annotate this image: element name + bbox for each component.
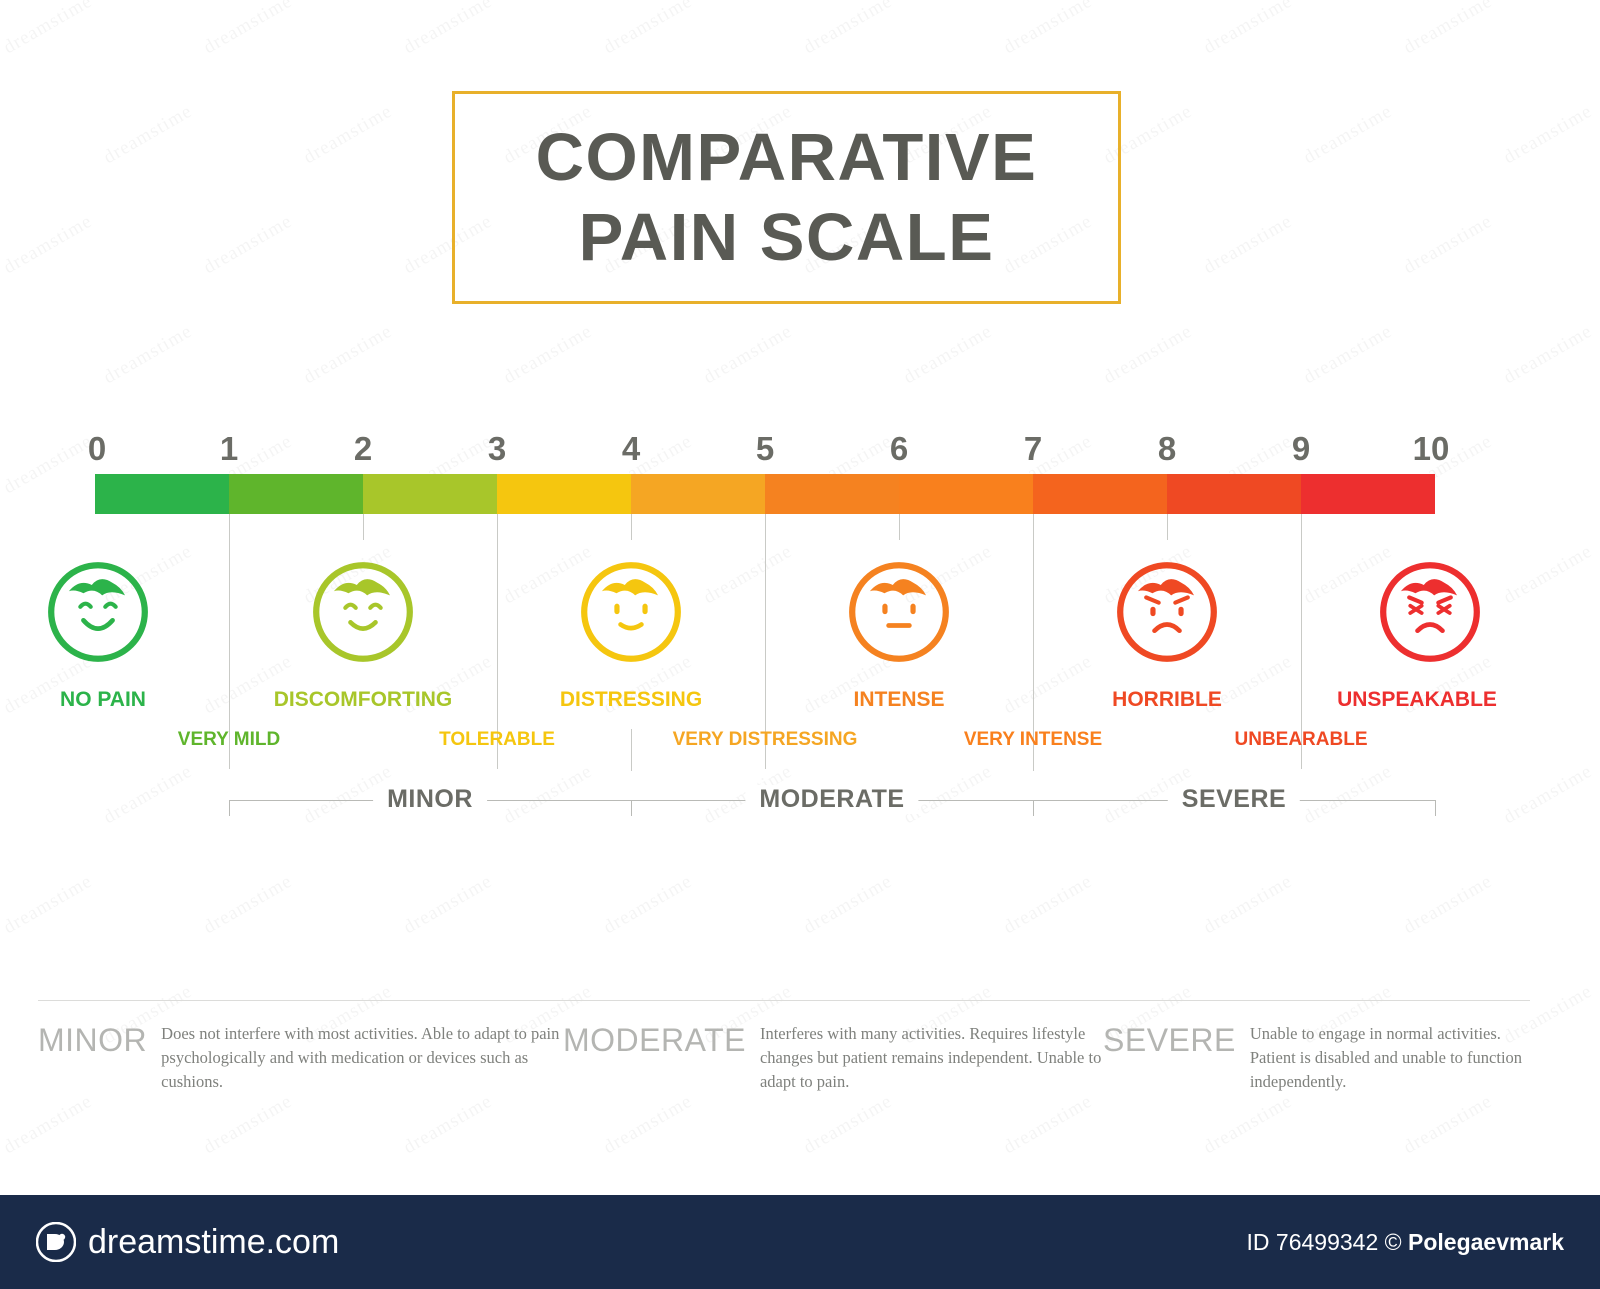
watermark-text: dreamstime [1400,211,1496,279]
brand-logo[interactable]: dreamstime.com [36,1222,339,1262]
watermark-text: dreamstime [1000,1091,1096,1159]
watermark-text: dreamstime [800,1091,896,1159]
watermark-text: dreamstime [900,321,996,389]
watermark-text: dreamstime [200,211,296,279]
group-label-severe: SEVERE [1168,785,1300,814]
watermark-text: dreamstime [1300,101,1396,169]
scale-segment-7 [1033,474,1167,514]
watermark-text: dreamstime [1000,0,1096,59]
scale-segment-4 [631,474,765,514]
description-severe: SEVERE Unable to engage in normal activi… [1103,1022,1523,1094]
watermark-text: dreamstime [600,1091,696,1159]
watermark-text: dreamstime [1200,0,1296,59]
scale-segment-2 [363,474,497,514]
brand-name: dreamstime.com [88,1223,339,1262]
footer-bar: dreamstime.com ID 76499342 © Polegaevmar… [0,1195,1600,1289]
primary-label-6: INTENSE [853,688,944,712]
scale-segment-8 [1167,474,1301,514]
description-minor-title: MINOR [38,1022,147,1059]
watermark-text: dreamstime [800,0,896,59]
credit-copyright: © [1385,1229,1402,1255]
secondary-labels-row: VERY MILDTOLERABLEVERY DISTRESSINGVERY I… [95,729,1435,757]
scale-tick-labels: 012345678910 [95,430,1435,474]
scale-segment-6 [899,474,1033,514]
scale-tick-label-1: 1 [220,430,238,468]
severity-descriptions: MINOR Does not interfere with most activ… [38,1022,1530,1094]
bracket-cap-severe-1 [1435,800,1436,816]
scale-tick-label-9: 9 [1292,430,1310,468]
watermark-text: dreamstime [0,431,96,499]
scale-color-bar [95,474,1435,514]
description-moderate-title: MODERATE [563,1022,746,1059]
scale-tick-label-8: 8 [1158,430,1176,468]
bracket-cap-minor-0 [229,800,230,816]
bracket-cap-moderate-0 [631,800,632,816]
description-moderate: MODERATE Interferes with many activities… [563,1022,1103,1094]
primary-label-0: NO PAIN [60,688,146,712]
description-minor-text: Does not interfere with most activities.… [161,1022,563,1094]
credit-id: ID 76499342 [1247,1229,1379,1255]
watermark-text: dreamstime [1300,321,1396,389]
face-icon-6 [847,560,951,664]
scale-segment-0 [95,474,229,514]
credit-author: Polegaevmark [1408,1229,1564,1255]
face-icons-row [95,560,1435,680]
watermark-text: dreamstime [1400,1091,1496,1159]
watermark-text: dreamstime [300,101,396,169]
watermark-text: dreamstime [1500,321,1596,389]
secondary-label-7: VERY INTENSE [964,729,1102,751]
watermark-text: dreamstime [100,101,196,169]
watermark-text: dreamstime [200,1091,296,1159]
image-credit: ID 76499342 © Polegaevmark [1247,1229,1564,1256]
watermark-text: dreamstime [0,871,96,939]
pain-scale: 012345678910 [95,430,1435,514]
face-icon-0 [46,560,150,664]
watermark-text: dreamstime [200,871,296,939]
watermark-text: dreamstime [1200,1091,1296,1159]
page-title: COMPARATIVE PAIN SCALE [452,91,1121,304]
description-severe-title: SEVERE [1103,1022,1236,1059]
face-icon-8 [1115,560,1219,664]
description-moderate-text: Interferes with many activities. Require… [760,1022,1103,1094]
scale-segment-3 [497,474,631,514]
description-minor: MINOR Does not interfere with most activ… [38,1022,563,1094]
watermark-text: dreamstime [1200,871,1296,939]
watermark-text: dreamstime [600,0,696,59]
scale-segment-1 [229,474,363,514]
watermark-text: dreamstime [300,321,396,389]
divider [38,1000,1530,1001]
primary-labels-row: NO PAINDISCOMFORTINGDISTRESSINGINTENSEHO… [95,688,1435,716]
watermark-text: dreamstime [400,0,496,59]
watermark-text: dreamstime [1500,761,1596,829]
watermark-text: dreamstime [400,871,496,939]
watermark-text: dreamstime [1200,211,1296,279]
secondary-label-1: VERY MILD [178,729,280,751]
watermark-text: dreamstime [200,0,296,59]
group-label-minor: MINOR [373,785,487,814]
scale-tick-label-2: 2 [354,430,372,468]
description-severe-text: Unable to engage in normal activities. P… [1250,1022,1523,1094]
primary-label-4: DISTRESSING [560,688,702,712]
scale-tick-label-10: 10 [1413,430,1450,468]
scale-tick-label-4: 4 [622,430,640,468]
page-title-line-2: PAIN SCALE [579,198,995,277]
watermark-text: dreamstime [0,211,96,279]
watermark-text: dreamstime [100,321,196,389]
watermark-text: dreamstime [1400,871,1496,939]
secondary-label-3: TOLERABLE [439,729,555,751]
watermark-text: dreamstime [1100,321,1196,389]
watermark-text: dreamstime [700,321,796,389]
watermark-text: dreamstime [1500,101,1596,169]
scale-tick-label-7: 7 [1024,430,1042,468]
watermark-text: dreamstime [1500,541,1596,609]
scale-tick-label-6: 6 [890,430,908,468]
watermark-text: dreamstime [0,0,96,59]
primary-label-10: UNSPEAKABLE [1337,688,1497,712]
watermark-text: dreamstime [1000,871,1096,939]
primary-label-8: HORRIBLE [1112,688,1222,712]
severity-group-brackets: MINORMODERATESEVERE [95,772,1435,832]
scale-tick-label-3: 3 [488,430,506,468]
scale-segment-5 [765,474,899,514]
watermark-text: dreamstime [800,871,896,939]
dreamstime-logo-icon [36,1222,76,1262]
secondary-label-5: VERY DISTRESSING [673,729,858,751]
watermark-text: dreamstime [600,871,696,939]
face-icon-4 [579,560,683,664]
watermark-text: dreamstime [400,1091,496,1159]
watermark-text: dreamstime [500,321,596,389]
scale-segment-9 [1301,474,1435,514]
bracket-cap-severe-0 [1033,800,1034,816]
primary-label-2: DISCOMFORTING [274,688,453,712]
page-title-line-1: COMPARATIVE [536,118,1038,197]
watermark-text: dreamstime [0,1091,96,1159]
secondary-label-9: UNBEARABLE [1235,729,1368,751]
group-label-moderate: MODERATE [745,785,918,814]
watermark-text: dreamstime [1400,0,1496,59]
face-icon-10 [1378,560,1482,664]
scale-tick-label-0: 0 [88,430,106,468]
scale-tick-label-5: 5 [756,430,774,468]
face-icon-2 [311,560,415,664]
